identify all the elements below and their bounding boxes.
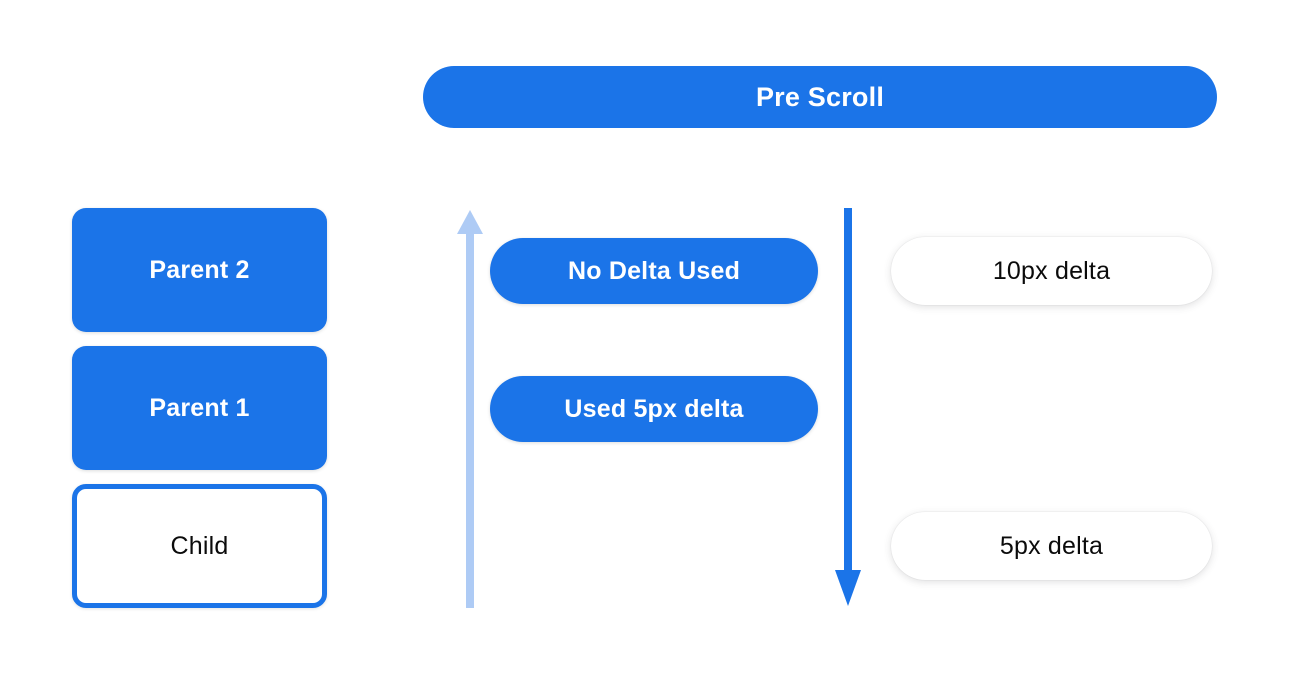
node-box-parent-1: Parent 1	[72, 346, 327, 470]
right-pill-10px-delta: 10px delta	[891, 237, 1212, 305]
node-box-parent-2-label: Parent 2	[149, 256, 249, 285]
middle-pill-no-delta-used-label: No Delta Used	[568, 257, 740, 286]
diagram-canvas: Pre Scroll Parent 2 Parent 1 Child No De…	[0, 0, 1312, 680]
node-box-child-label: Child	[171, 532, 229, 561]
pre-scroll-header-pill: Pre Scroll	[423, 66, 1217, 128]
node-box-child: Child	[72, 484, 327, 608]
middle-pill-no-delta-used: No Delta Used	[490, 238, 818, 304]
down-arrow-icon	[826, 208, 870, 608]
right-pill-10px-delta-label: 10px delta	[993, 257, 1110, 286]
node-box-parent-1-label: Parent 1	[149, 394, 249, 423]
middle-pill-used-5px-delta: Used 5px delta	[490, 376, 818, 442]
right-pill-5px-delta-label: 5px delta	[1000, 532, 1103, 561]
right-pill-5px-delta: 5px delta	[891, 512, 1212, 580]
node-box-parent-2: Parent 2	[72, 208, 327, 332]
up-arrow-icon	[452, 208, 488, 608]
middle-pill-used-5px-delta-label: Used 5px delta	[564, 395, 743, 424]
pre-scroll-header-label: Pre Scroll	[756, 82, 884, 113]
